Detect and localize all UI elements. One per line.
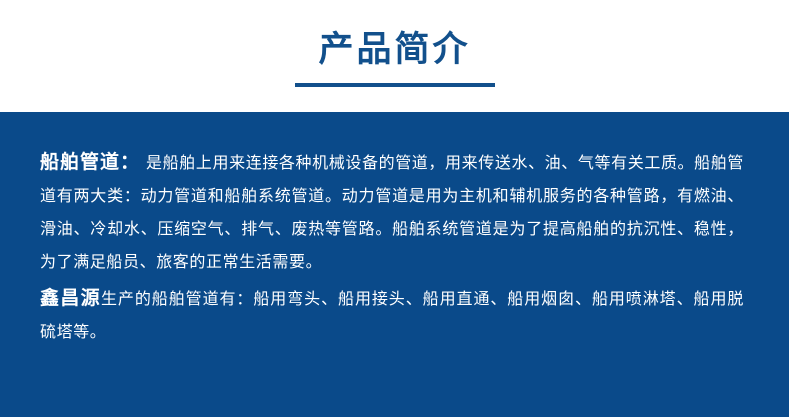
paragraph-shipping-pipeline: 船舶管道：是船舶上用来连接各种机械设备的管道，用来传送水、油、气等有关工质。船舶… [40, 146, 744, 278]
paragraph-lead-label-2: 鑫昌源 [40, 287, 101, 309]
product-intro-page: 产品简介 船舶管道：是船舶上用来连接各种机械设备的管道，用来传送水、油、气等有关… [0, 0, 789, 417]
paragraph-body-text-1: 是船舶上用来连接各种机械设备的管道，用来传送水、油、气等有关工质。船舶管道有两大… [40, 153, 744, 271]
page-title: 产品简介 [318, 29, 470, 71]
page-header: 产品简介 [0, 0, 789, 112]
product-description-panel: 船舶管道：是船舶上用来连接各种机械设备的管道，用来传送水、油、气等有关工质。船舶… [0, 112, 789, 417]
title-underline-rule [295, 83, 495, 87]
paragraph-body-text-2: 生产的船舶管道有：船用弯头、船用接头、船用直通、船用烟囱、船用喷淋塔、船用脱硫塔… [40, 289, 744, 341]
paragraph-lead-label-1: 船舶管道： [40, 151, 140, 173]
paragraph-company-products: 鑫昌源生产的船舶管道有：船用弯头、船用接头、船用直通、船用烟囱、船用喷淋塔、船用… [40, 282, 744, 348]
